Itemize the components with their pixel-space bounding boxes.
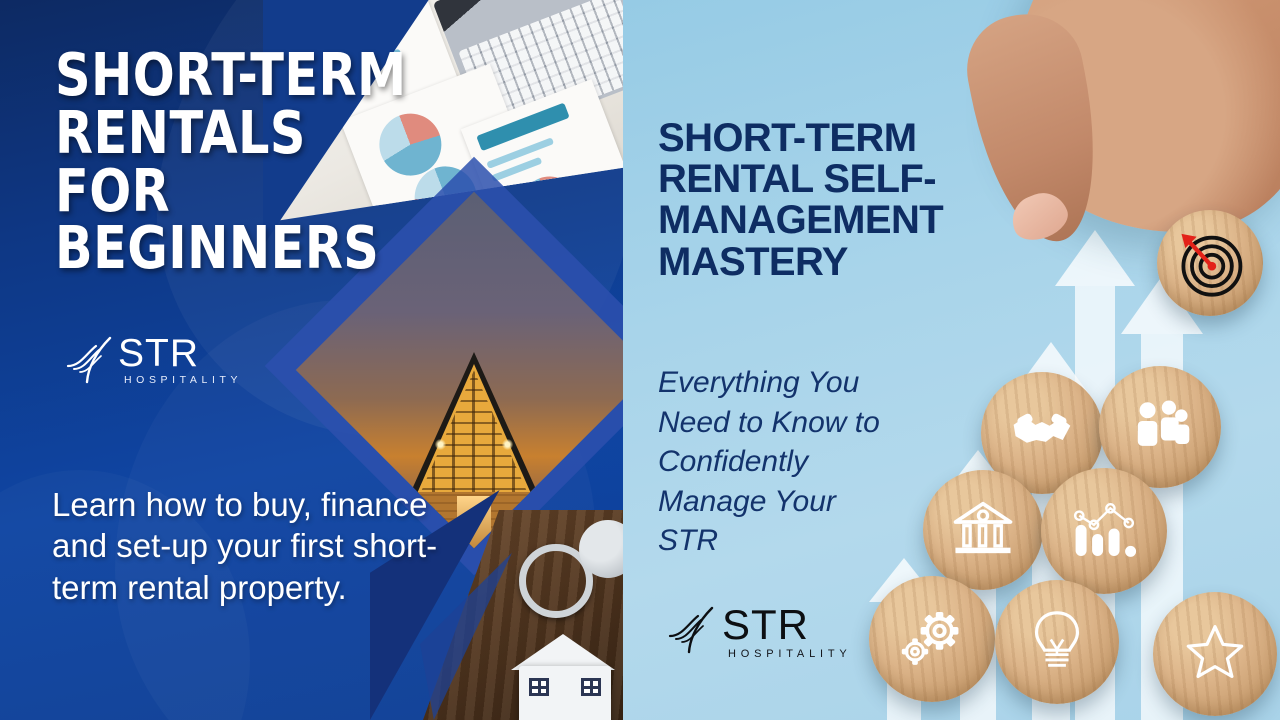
left-body-text: Learn how to buy, finance and set-up you… <box>52 484 452 608</box>
right-headline-line-1: SHORT-TERM <box>658 118 1058 159</box>
disc-gears <box>869 576 995 702</box>
people-group-icon <box>1128 393 1192 462</box>
promo-banner: SHORT-TERM RENTALS FOR BEGINNERS STR HOS… <box>0 0 1280 720</box>
lightbulb-icon <box>1025 606 1089 679</box>
right-subtitle-line-1: Everything You <box>658 363 958 403</box>
right-headline: SHORT-TERM RENTAL SELF- MANAGEMENT MASTE… <box>658 118 1058 283</box>
logo-wordmark: STR <box>722 601 809 649</box>
disc-star <box>1153 592 1277 716</box>
house-body-shape <box>519 666 611 720</box>
handshake-icon <box>1008 397 1076 470</box>
gears-icon <box>896 603 968 676</box>
left-headline-line-3: BEGINNERS <box>55 219 427 277</box>
right-headline-line-2: RENTAL SELF- <box>658 159 1058 200</box>
logo-wordmark: STR <box>118 332 199 376</box>
left-panel: SHORT-TERM RENTALS FOR BEGINNERS STR HOS… <box>0 0 623 720</box>
disc-lightbulb <box>995 580 1119 704</box>
bar-chart-analytics-icon <box>1068 496 1140 567</box>
right-subtitle: Everything You Need to Know to Confident… <box>658 363 958 561</box>
star-icon <box>1183 620 1247 689</box>
str-swoosh-mark-icon <box>668 606 726 654</box>
right-headline-line-4: MASTERY <box>658 242 1058 283</box>
left-headline-line-1: SHORT-TERM <box>55 46 427 104</box>
house-roof-shape <box>511 634 615 670</box>
left-headline: SHORT-TERM RENTALS FOR BEGINNERS <box>55 46 427 277</box>
logo-tagline: HOSPITALITY <box>124 374 242 386</box>
right-subtitle-line-3: Confidently <box>658 442 958 482</box>
left-logo: STR HOSPITALITY <box>66 334 236 396</box>
disc-target <box>1157 210 1263 316</box>
right-panel: SHORT-TERM RENTAL SELF- MANAGEMENT MASTE… <box>623 0 1280 720</box>
str-swoosh-mark-icon <box>66 336 124 384</box>
right-logo: STR HOSPITALITY <box>668 604 853 666</box>
right-subtitle-line-2: Need to Know to <box>658 403 958 443</box>
bank-building-icon <box>950 495 1016 566</box>
target-bullseye-icon <box>1172 223 1248 304</box>
right-headline-line-3: MANAGEMENT <box>658 200 1058 241</box>
logo-tagline: HOSPITALITY <box>728 648 852 660</box>
right-subtitle-line-4: Manage Your <box>658 482 958 522</box>
left-headline-line-2: RENTALS FOR <box>55 104 427 220</box>
right-subtitle-line-5: STR <box>658 521 958 561</box>
disc-analytics <box>1041 468 1167 594</box>
